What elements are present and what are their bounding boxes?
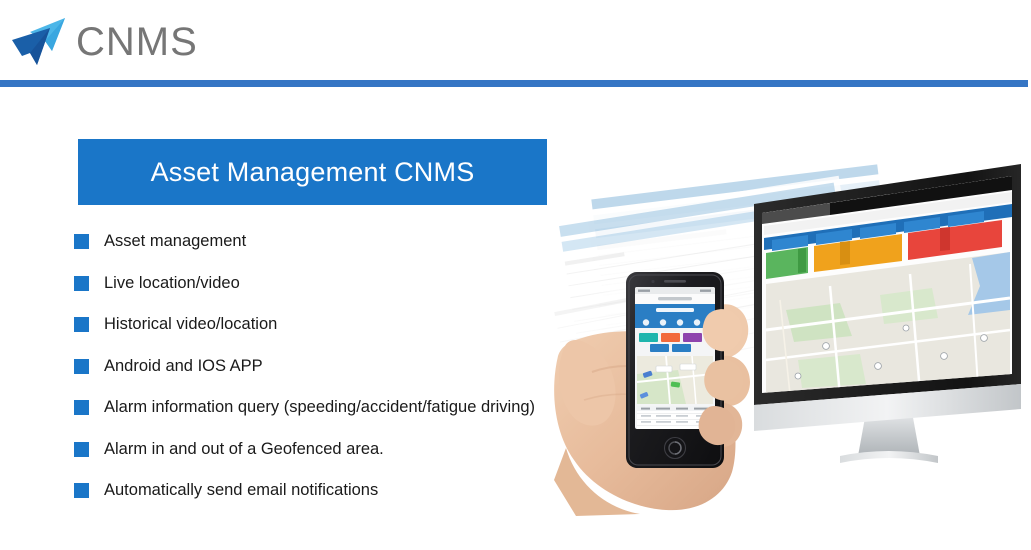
list-item: Alarm information query (speeding/accide… xyxy=(74,396,594,438)
page-header: CNMS xyxy=(0,0,1031,80)
header-divider xyxy=(0,80,1028,87)
bullet-square-icon xyxy=(74,317,89,332)
list-item-label: Alarm in and out of a Geofenced area. xyxy=(104,438,384,460)
double-arrow-logo-icon xyxy=(8,14,70,68)
bullet-square-icon xyxy=(74,442,89,457)
list-item: Android and IOS APP xyxy=(74,355,594,397)
bullet-square-icon xyxy=(74,234,89,249)
list-item: Alarm in and out of a Geofenced area. xyxy=(74,438,594,480)
brand-title: CNMS xyxy=(76,15,198,69)
mobile-tile-teal xyxy=(639,333,658,342)
product-illustration xyxy=(540,160,1031,520)
list-item-label: Asset management xyxy=(104,230,246,252)
bullet-square-icon xyxy=(74,400,89,415)
section-title-banner: Asset Management CNMS xyxy=(78,139,547,205)
mobile-dashboard-screen xyxy=(635,287,715,429)
list-item-label: Historical video/location xyxy=(104,313,277,335)
list-item: Historical video/location xyxy=(74,313,594,355)
desktop-monitor xyxy=(754,164,1021,431)
phone-home-button xyxy=(665,438,686,459)
slide: CNMS Asset Management CNMS Asset managem… xyxy=(0,0,1031,550)
list-item-label: Live location/video xyxy=(104,272,240,294)
bullet-square-icon xyxy=(74,359,89,374)
bullet-square-icon xyxy=(74,276,89,291)
bullet-square-icon xyxy=(74,483,89,498)
list-item-label: Automatically send email notifications xyxy=(104,479,378,501)
mobile-tile-purple xyxy=(683,333,702,342)
list-item-label: Android and IOS APP xyxy=(104,355,263,377)
mobile-tile-blue xyxy=(650,344,669,352)
page-title: Asset Management CNMS xyxy=(151,157,475,188)
list-item-label: Alarm information query (speeding/accide… xyxy=(104,396,535,418)
feature-list: Asset management Live location/video His… xyxy=(74,230,594,521)
list-item: Automatically send email notifications xyxy=(74,479,594,521)
list-item: Asset management xyxy=(74,230,594,272)
list-item: Live location/video xyxy=(74,272,594,314)
mobile-tile-orange xyxy=(661,333,680,342)
